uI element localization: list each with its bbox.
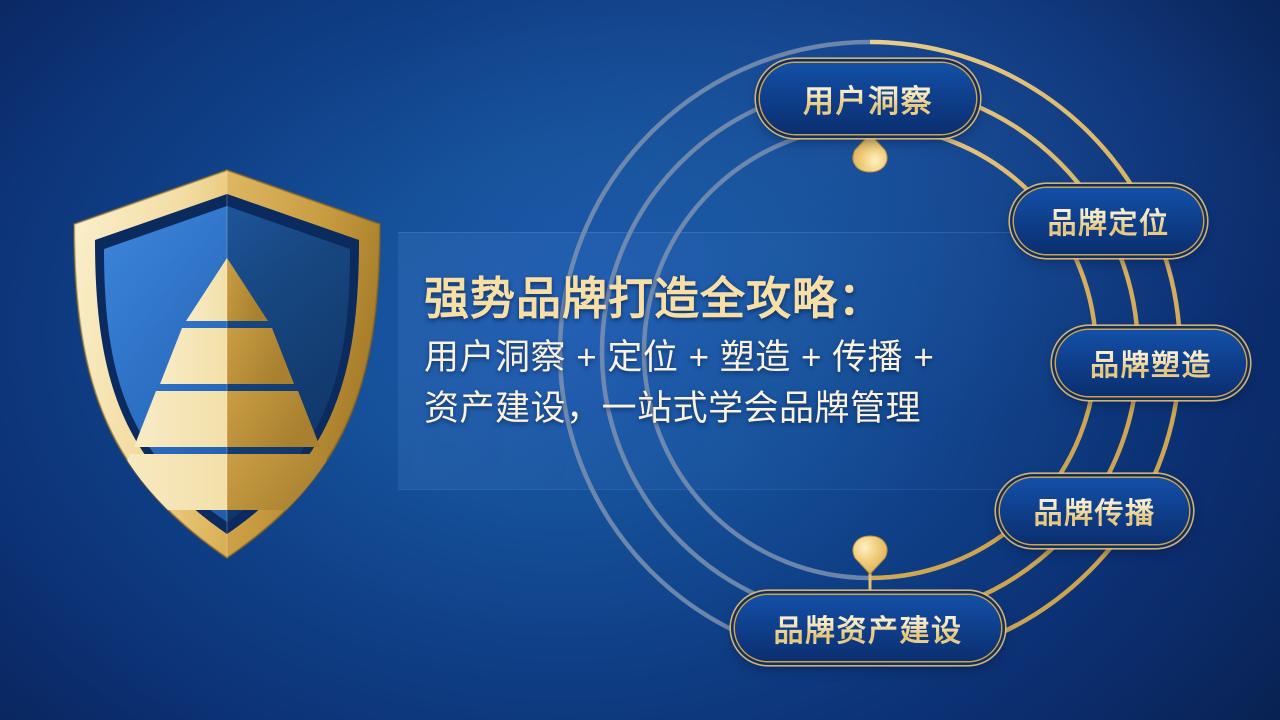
node-label: 品牌传播 (1033, 490, 1155, 532)
node-brand-position[interactable]: 品牌定位 (1014, 188, 1203, 254)
node-label: 品牌定位 (1047, 200, 1169, 242)
node-brand-comms[interactable]: 品牌传播 (1000, 478, 1189, 544)
node-marker-bottom (853, 536, 887, 590)
node-label: 用户洞察 (803, 76, 933, 121)
node-label: 品牌资产建设 (774, 606, 963, 650)
page-title: 强势品牌打造全攻略： (424, 274, 1044, 324)
headline-block: 强势品牌打造全攻略： 用户洞察 + 定位 + 塑造 + 传播 + 资产建设，一站… (424, 274, 1044, 434)
node-brand-shaping[interactable]: 品牌塑造 (1056, 330, 1246, 396)
shield-pyramid-emblem (62, 158, 392, 568)
subtitle-line-2: 资产建设，一站式学会品牌管理 (424, 384, 1044, 434)
node-label: 品牌塑造 (1090, 342, 1212, 384)
node-brand-assets[interactable]: 品牌资产建设 (735, 595, 1001, 661)
node-user-insight[interactable]: 用户洞察 (760, 63, 976, 134)
subtitle-line-1: 用户洞察 + 定位 + 塑造 + 传播 + (424, 333, 1044, 383)
